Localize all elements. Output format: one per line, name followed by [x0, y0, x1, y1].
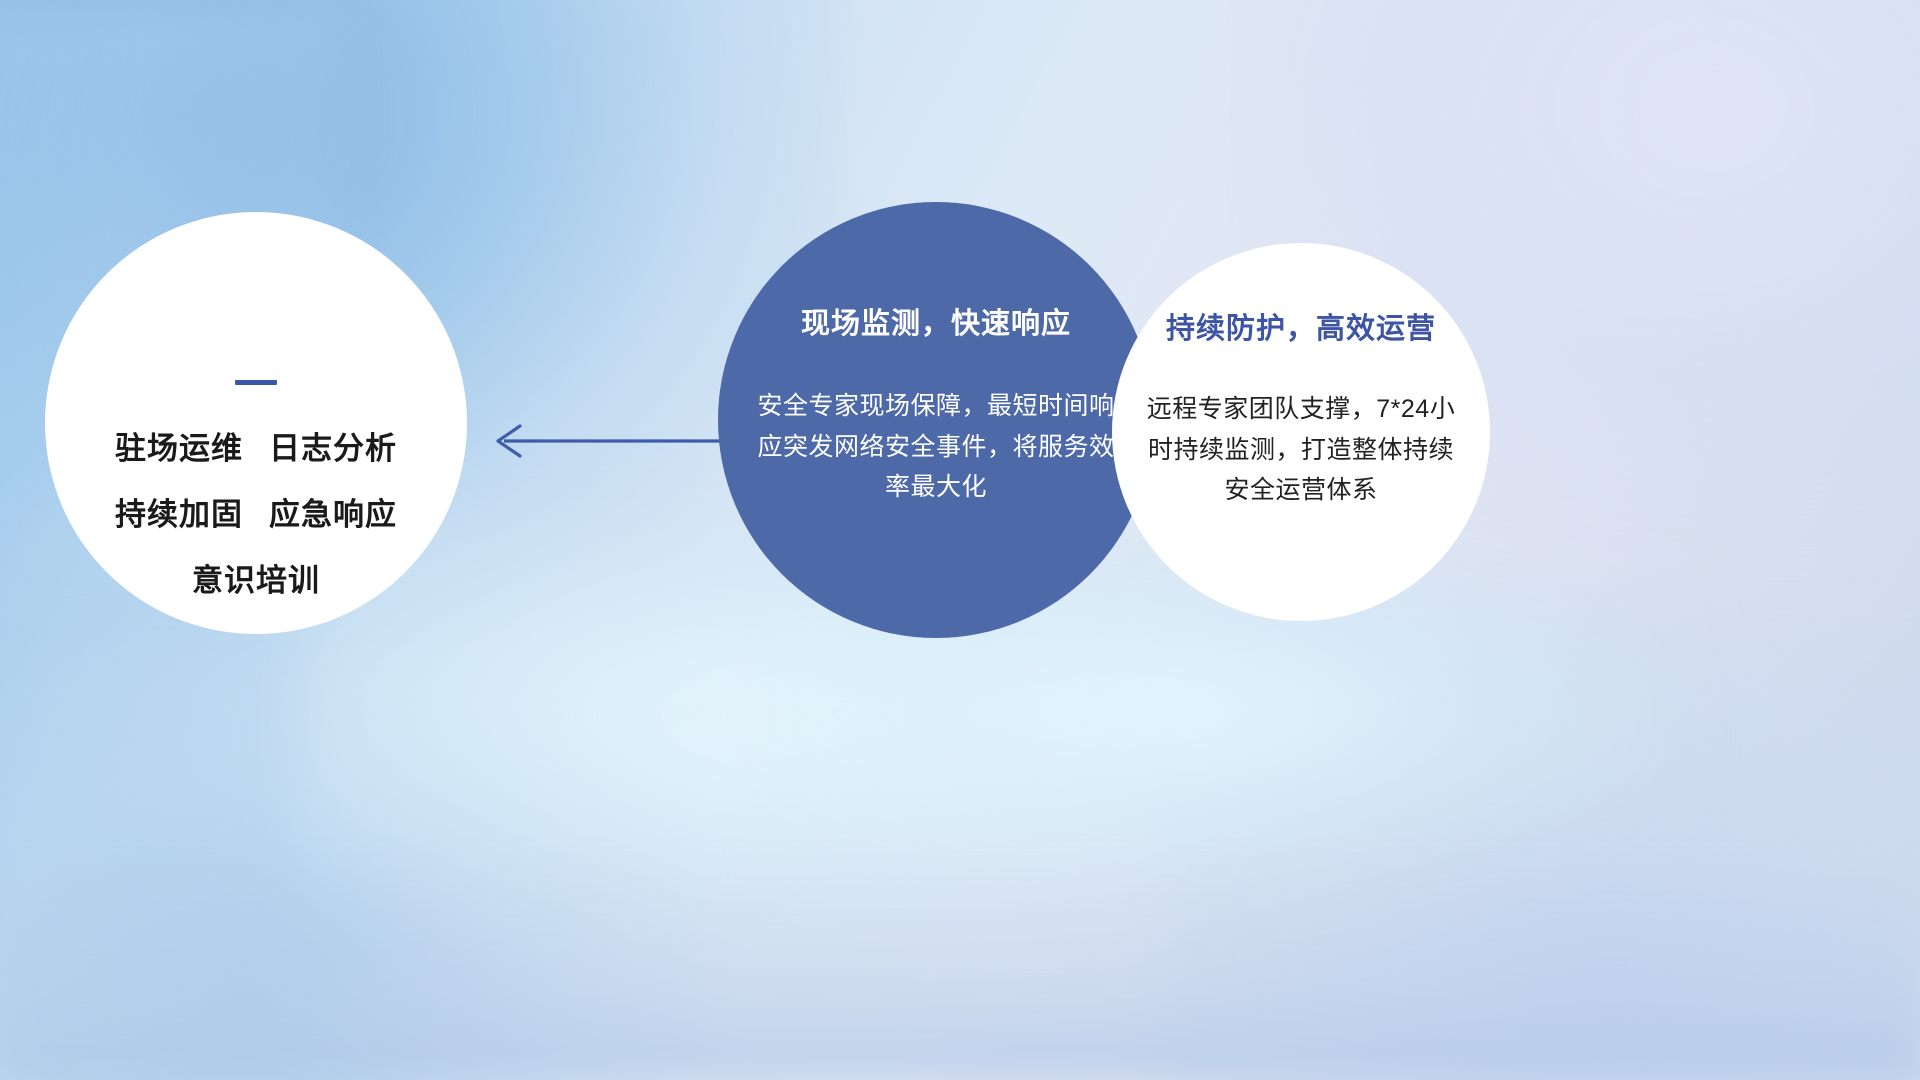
middle-circle-title: 现场监测，快速响应	[736, 300, 1136, 342]
left-circle-content: 驻场运维日志分析 持续加固应急响应 意识培训	[45, 380, 467, 596]
left-tag-4: 应急响应	[269, 497, 397, 532]
left-circle-line-3: 意识培训	[79, 565, 433, 596]
flow-arrow	[470, 412, 730, 470]
capability-circle-right[interactable]: 持续防护，高效运营 远程专家团队支撑，7*24小时持续监测，打造整体持续安全运营…	[1112, 243, 1490, 621]
left-tag-2: 日志分析	[269, 431, 397, 466]
left-tag-5: 意识培训	[192, 563, 320, 598]
right-circle-body: 远程专家团队支撑，7*24小时持续监测，打造整体持续安全运营体系	[1134, 389, 1468, 511]
left-tag-1: 驻场运维	[115, 431, 243, 466]
left-tag-3: 持续加固	[115, 497, 243, 532]
slide-canvas: 驻场运维日志分析 持续加固应急响应 意识培训 现场监测，快速响应 安全专家现场保…	[0, 0, 1920, 1080]
capability-circle-middle[interactable]: 现场监测，快速响应 安全专家现场保障，最短时间响应突发网络安全事件，将服务效率最…	[718, 202, 1154, 638]
right-circle-title: 持续防护，高效运营	[1134, 305, 1468, 347]
left-circle-divider-dash	[235, 380, 277, 385]
capability-circle-left[interactable]: 驻场运维日志分析 持续加固应急响应 意识培训	[45, 212, 467, 634]
right-circle-content: 持续防护，高效运营 远程专家团队支撑，7*24小时持续监测，打造整体持续安全运营…	[1112, 305, 1490, 511]
flow-arrow-icon	[470, 412, 730, 470]
left-circle-line-1: 驻场运维日志分析	[79, 433, 433, 464]
left-circle-line-2: 持续加固应急响应	[79, 499, 433, 530]
middle-circle-content: 现场监测，快速响应 安全专家现场保障，最短时间响应突发网络安全事件，将服务效率最…	[718, 300, 1154, 508]
middle-circle-body: 安全专家现场保障，最短时间响应突发网络安全事件，将服务效率最大化	[736, 386, 1136, 508]
background-bottom-shade	[0, 860, 1920, 1080]
